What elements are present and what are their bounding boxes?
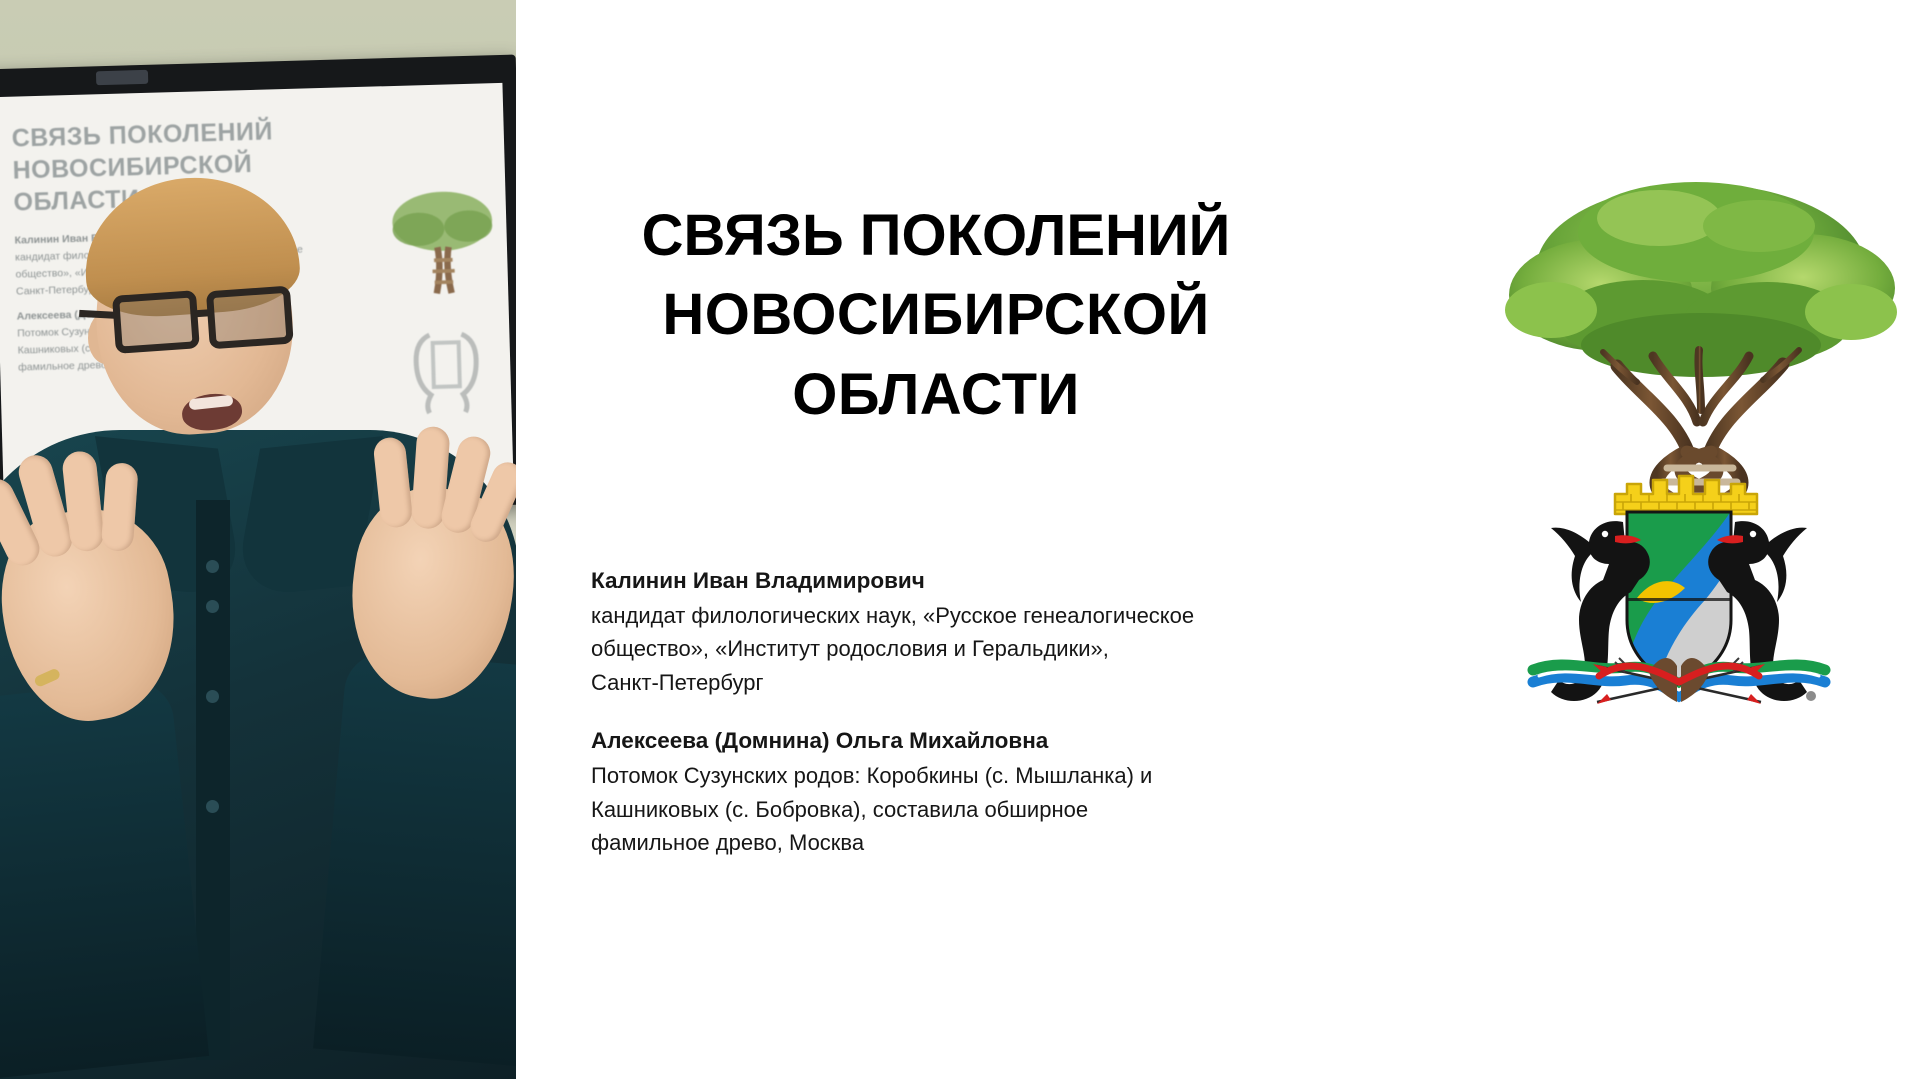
speaker-description-line: кандидат филологических наук, «Русское г… xyxy=(591,599,1306,632)
wedding-ring-icon xyxy=(33,667,61,688)
shirt-placket xyxy=(196,500,230,1060)
speaker-block: Алексеева (Домнина) Ольга Михайловна Пот… xyxy=(591,725,1306,859)
speaker-video-feed[interactable]: СВЯЗЬ ПОКОЛЕНИЙ НОВОСИБИРСКОЙ ОБЛАСТИ Ка… xyxy=(0,0,516,1079)
speaker-description: Потомок Сузунских родов: Коробкины (с. М… xyxy=(591,759,1306,859)
speaker-description-line: фамильное древо, Москва xyxy=(591,826,1306,859)
speaker-name: Алексеева (Домнина) Ольга Михайловна xyxy=(591,725,1306,757)
sleeve-right xyxy=(313,650,516,1070)
crown-icon xyxy=(1615,476,1757,514)
speaker-figure xyxy=(0,0,516,1079)
shirt-button-icon xyxy=(206,800,219,813)
screen-root: СВЯЗЬ ПОКОЛЕНИЙ НОВОСИБИРСКОЙ ОБЛАСТИ Ка… xyxy=(0,0,1919,1079)
shirt-button-icon xyxy=(206,560,219,573)
shirt-button-icon xyxy=(206,600,219,613)
speaker-name: Калинин Иван Владимирович xyxy=(591,565,1306,597)
speaker-block: Калинин Иван Владимирович кандидат филол… xyxy=(591,565,1306,699)
presentation-slide: СВЯЗЬ ПОКОЛЕНИЙ НОВОСИБИРСКОЙ ОБЛАСТИ Ка… xyxy=(516,0,1919,1079)
speaker-description-line: общество», «Институт родословия и Гераль… xyxy=(591,632,1306,665)
speaker-description-line: Кашниковых (с. Бобровка), составила обши… xyxy=(591,793,1306,826)
speaker-description-line: Санкт-Петербург xyxy=(591,666,1306,699)
slide-title-line-1: СВЯЗЬ ПОКОЛЕНИЙ xyxy=(586,196,1286,275)
novosibirsk-coat-of-arms xyxy=(1519,470,1839,720)
shirt-button-icon xyxy=(206,690,219,703)
speaker-description-line: Потомок Сузунских родов: Коробкины (с. М… xyxy=(591,759,1306,792)
dna-tree-illustration xyxy=(1491,160,1911,505)
slide-body: Калинин Иван Владимирович кандидат филол… xyxy=(591,565,1306,860)
slide-title: СВЯЗЬ ПОКОЛЕНИЙ НОВОСИБИРСКОЙ ОБЛАСТИ xyxy=(586,196,1286,434)
slide-title-line-3: ОБЛАСТИ xyxy=(586,355,1286,434)
slide-title-line-2: НОВОСИБИРСКОЙ xyxy=(586,275,1286,354)
speaker-description: кандидат филологических наук, «Русское г… xyxy=(591,599,1306,699)
crest-dot-icon xyxy=(1806,691,1816,701)
